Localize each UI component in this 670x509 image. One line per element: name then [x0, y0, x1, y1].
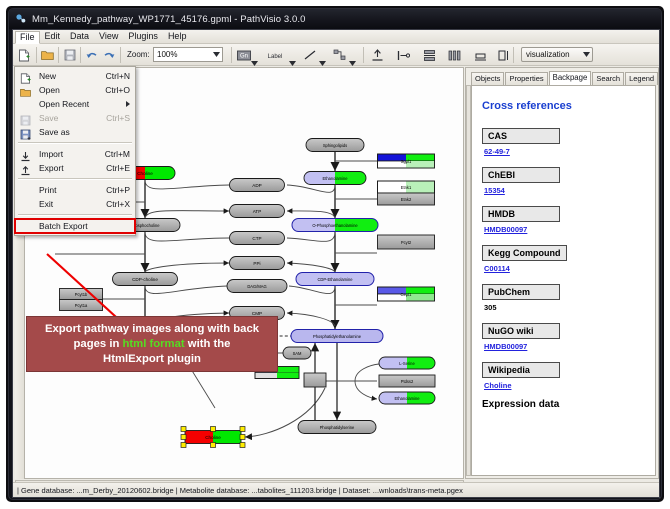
cross-references-title: Cross references: [482, 100, 647, 112]
gene-product-icon[interactable]: Gn: [235, 47, 252, 63]
menu-plugins[interactable]: Plugins: [123, 30, 163, 43]
menu-item-save: Save Ctrl+S: [15, 111, 135, 125]
file-menu-dropdown[interactable]: New Ctrl+N Open Ctrl+O Open Recent: [14, 66, 136, 236]
menu-item-label: Save as: [39, 127, 70, 137]
screenshot-root: Mm_Kennedy_pathway_WP1771_45176.gpml - P…: [0, 0, 670, 509]
callout-line-2b: with the: [185, 338, 231, 350]
menu-item-label: Batch Export: [39, 221, 88, 231]
node-cdp-ethanolamine[interactable]: CDP-Ethanolamine: [296, 273, 374, 286]
title-bar: Mm_Kennedy_pathway_WP1771_45176.gpml - P…: [9, 9, 661, 29]
node-label: Ethanolamine: [394, 396, 420, 401]
application-window: Mm_Kennedy_pathway_WP1771_45176.gpml - P…: [8, 8, 662, 500]
node-atp[interactable]: ATP: [230, 205, 285, 218]
connector-dropdown-icon[interactable]: [349, 53, 356, 59]
tab-backpage[interactable]: Backpage: [549, 71, 592, 85]
node-sphingolipids[interactable]: Sphingolipids: [306, 139, 364, 152]
node-label: Sphingolipids: [323, 143, 347, 148]
chevron-down-icon-2: [583, 52, 590, 57]
node-label: PPi: [253, 261, 260, 266]
gene-product-dropdown-icon[interactable]: [251, 53, 258, 59]
callout-highlight: html format: [123, 338, 185, 350]
callout-line-2a: pages in: [74, 338, 123, 350]
node-label: CTP: [252, 236, 261, 241]
node-cdp-choline[interactable]: CDP-choline: [113, 273, 178, 286]
side-panel: Objects Properties Backpage Search Legen…: [465, 67, 659, 479]
submenu-arrow-icon: [126, 101, 130, 107]
line-tool-icon[interactable]: [301, 47, 318, 63]
node-phosphatidylethanolamine[interactable]: Phosphatidylethanolamine: [291, 330, 383, 343]
xref-header-pubchem: PubChem: [482, 284, 560, 300]
xref-value-kegg: C00114: [484, 264, 647, 273]
zoom-combobox[interactable]: 100%: [153, 47, 223, 62]
menu-item-label: Open Recent: [39, 99, 89, 109]
menu-item-print[interactable]: Print Ctrl+P: [15, 183, 135, 197]
node-label: Choline: [205, 435, 221, 440]
callout-line-3: HtmlExport plugin: [103, 352, 201, 367]
backpage-content: Cross references CAS 62-49-7 ChEBI 15354…: [471, 85, 656, 476]
node-ethanolamine-top[interactable]: Ethanolamine: [304, 172, 366, 185]
redo-button[interactable]: [101, 47, 118, 63]
menu-help[interactable]: Help: [163, 30, 192, 43]
node-label: DAG/MAG: [247, 284, 266, 289]
menu-item-label: Save: [39, 113, 58, 123]
save-button[interactable]: [61, 47, 78, 63]
menu-view[interactable]: View: [94, 30, 123, 43]
node-ptdss2[interactable]: Ptdss2: [379, 375, 435, 387]
node-sam[interactable]: SAM: [283, 347, 311, 359]
node-label: Etnk1: [401, 185, 412, 190]
menu-item-label: Exit: [39, 199, 53, 209]
node-label: SAM: [293, 351, 302, 356]
tab-properties[interactable]: Properties: [505, 72, 547, 85]
folder-icon: [20, 85, 31, 96]
tab-search[interactable]: Search: [592, 72, 624, 85]
label-dropdown-icon[interactable]: [289, 53, 296, 59]
status-text: | Gene database: ...m_Derby_20120602.bri…: [13, 486, 463, 495]
xref-header-hmdb: HMDB: [482, 206, 560, 222]
menu-item-accel: Ctrl+N: [106, 71, 130, 81]
node-o-phosphoethanolamine[interactable]: O-Phosphoethanolamine: [292, 219, 378, 232]
open-file-button[interactable]: [39, 47, 56, 63]
node-label: Etnk2: [401, 197, 412, 202]
svg-text:Gn: Gn: [239, 53, 247, 59]
xref-header-cas: CAS: [482, 128, 560, 144]
node-label: Ethanolamine: [322, 176, 348, 181]
new-file-button[interactable]: [15, 47, 32, 63]
zoom-value: 100%: [154, 50, 177, 59]
node-label: O-Phosphoethanolamine: [312, 223, 358, 228]
save-as-icon: [20, 127, 31, 138]
xref-link-chebi[interactable]: 15354: [484, 186, 505, 195]
expression-data-title: Expression data: [482, 399, 647, 410]
menu-item-batch-export[interactable]: Batch Export: [15, 219, 135, 233]
menu-separator-1: [18, 142, 132, 144]
xref-value-hmdb: HMDB00097: [484, 225, 647, 234]
node-ethanolamine-bottom[interactable]: Ethanolamine: [379, 392, 435, 404]
xref-value-wikipedia: Choline: [484, 381, 647, 390]
xref-header-kegg: Kegg Compound: [482, 245, 567, 261]
align-left-icon[interactable]: [395, 47, 412, 63]
menu-separator-2: [18, 178, 132, 180]
node-label: CDP-Ethanolamine: [317, 277, 353, 282]
node-label: Pcyt1b: [75, 292, 88, 297]
menu-item-export[interactable]: Export Ctrl+E: [15, 161, 135, 175]
node-sgpl1[interactable]: Sgpl1: [378, 154, 435, 168]
menu-separator-3: [18, 214, 132, 216]
menu-item-save-as[interactable]: Save as: [15, 125, 135, 139]
menu-item-import[interactable]: Import Ctrl+M: [15, 147, 135, 161]
menu-bar: File Edit Data View Plugins Help: [13, 30, 659, 44]
side-panel-tabs: Objects Properties Backpage Search Legen…: [471, 71, 656, 85]
menu-item-label: Export: [39, 163, 64, 173]
xref-value-nugo: HMDB00097: [484, 342, 647, 351]
node-label: ADP: [252, 183, 261, 188]
menu-edit[interactable]: Edit: [40, 30, 66, 43]
node-cept1[interactable]: Cept1: [378, 287, 435, 301]
tab-objects[interactable]: Objects: [471, 72, 504, 85]
export-icon: [20, 163, 31, 174]
node-choline-bottom-selected[interactable]: Choline: [181, 427, 245, 448]
status-bar: | Gene database: ...m_Derby_20120602.bri…: [13, 482, 659, 497]
toolbar-separator-5: [231, 47, 232, 63]
toolbar-separator-7: [513, 47, 514, 63]
visualization-value: visualization: [522, 50, 570, 59]
xref-header-wikipedia: Wikipedia: [482, 362, 560, 378]
size-width-icon[interactable]: [472, 47, 489, 63]
node-ctp[interactable]: CTP: [230, 232, 285, 245]
distribute-icon[interactable]: [446, 47, 463, 63]
node-etnk1[interactable]: Etnk1: [378, 181, 435, 193]
menu-item-open[interactable]: Open Ctrl+O: [15, 83, 135, 97]
tab-legend[interactable]: Legend: [625, 72, 658, 85]
menu-item-new[interactable]: New Ctrl+N: [15, 69, 135, 83]
toolbar-separator: [36, 47, 37, 63]
node-label: ATP: [253, 209, 262, 214]
node-label: CDP-choline: [132, 277, 158, 282]
menu-item-label: New: [39, 71, 56, 81]
node-label: Pcyt1a: [75, 303, 88, 308]
xref-link-kegg[interactable]: C00114: [484, 264, 510, 273]
new-file-icon: [20, 71, 31, 82]
window-title: Mm_Kennedy_pathway_WP1771_45176.gpml - P…: [32, 14, 306, 25]
pathvisio-icon: [15, 13, 27, 25]
menu-item-label: Import: [39, 149, 63, 159]
node-phosphatidylserine[interactable]: Phosphatidylserine: [298, 421, 376, 434]
connector-tool-icon[interactable]: [331, 47, 348, 63]
save-icon: [20, 113, 31, 124]
menu-file[interactable]: File: [15, 31, 40, 44]
xref-link-wikipedia[interactable]: Choline: [484, 381, 512, 390]
menu-data[interactable]: Data: [65, 30, 94, 43]
node-pcyt2[interactable]: Pcyt2: [378, 235, 435, 249]
xref-value-chebi: 15354: [484, 186, 647, 195]
node-adp[interactable]: ADP: [230, 179, 285, 192]
toolbar-separator-4: [120, 47, 121, 63]
menu-item-accel: Ctrl+S: [106, 113, 130, 123]
menu-item-open-recent[interactable]: Open Recent: [15, 97, 135, 111]
size-height-icon[interactable]: [495, 47, 512, 63]
node-label: Phosphatidylserine: [320, 425, 355, 430]
toolbar-separator-3: [80, 47, 81, 63]
node-label: Pcyt2: [401, 240, 412, 245]
align-top-icon[interactable]: [369, 47, 386, 63]
undo-button[interactable]: [83, 47, 100, 63]
zoom-label: Zoom:: [127, 50, 150, 59]
xref-header-nugo: NuGO wiki: [482, 323, 560, 339]
node-label: Phosphatidylethanolamine: [313, 334, 362, 339]
toolbar-separator-2: [58, 47, 59, 63]
toolbar-separator-6: [363, 47, 364, 63]
node-etnk2[interactable]: Etnk2: [378, 193, 435, 205]
node-pemt[interactable]: [304, 373, 326, 387]
xref-value-cas: 62-49-7: [484, 147, 647, 156]
import-icon: [20, 149, 31, 160]
callout-line-1: Export pathway images along with back: [45, 322, 259, 337]
menu-item-label: Open: [39, 85, 60, 95]
xref-header-chebi: ChEBI: [482, 167, 560, 183]
menu-item-label: Print: [39, 185, 56, 195]
visualization-combobox[interactable]: visualization: [521, 47, 593, 62]
menu-item-accel: Ctrl+O: [105, 85, 130, 95]
label-tool-icon[interactable]: Label: [263, 47, 287, 63]
stack-vertical-icon[interactable]: [421, 47, 438, 63]
toolbar: Zoom: 100% Gn Label: [13, 44, 659, 66]
node-label: Cept1: [401, 292, 413, 297]
menu-item-accel: Ctrl+X: [106, 199, 130, 209]
annotation-callout: Export pathway images along with back pa…: [26, 316, 278, 372]
menu-item-accel: Ctrl+E: [106, 163, 130, 173]
node-dag-mag[interactable]: DAG/MAG: [227, 280, 287, 293]
node-label: Sgpl1: [401, 159, 412, 164]
xref-link-cas[interactable]: 62-49-7: [484, 147, 510, 156]
menu-item-exit[interactable]: Exit Ctrl+X: [15, 197, 135, 211]
xref-link-hmdb[interactable]: HMDB00097: [484, 225, 527, 234]
xref-value-pubchem: 305: [484, 303, 647, 312]
node-label: Choline: [137, 171, 153, 176]
chevron-down-icon: [213, 52, 220, 57]
node-pcyt1a[interactable]: Pcyt1a: [60, 300, 103, 311]
client-area: File Edit Data View Plugins Help: [12, 29, 660, 498]
node-label: L-Serine: [399, 361, 415, 366]
xref-link-nugo[interactable]: HMDB00097: [484, 342, 527, 351]
menu-item-accel: Ctrl+M: [105, 149, 130, 159]
callout-line-2: pages in html format with the: [74, 337, 231, 352]
node-ppi[interactable]: PPi: [230, 257, 285, 270]
menu-item-accel: Ctrl+P: [106, 185, 130, 195]
node-l-serine[interactable]: L-Serine: [379, 357, 435, 369]
line-dropdown-icon[interactable]: [319, 53, 326, 59]
svg-text:Label: Label: [268, 54, 283, 60]
node-label: Ptdss2: [401, 379, 414, 384]
